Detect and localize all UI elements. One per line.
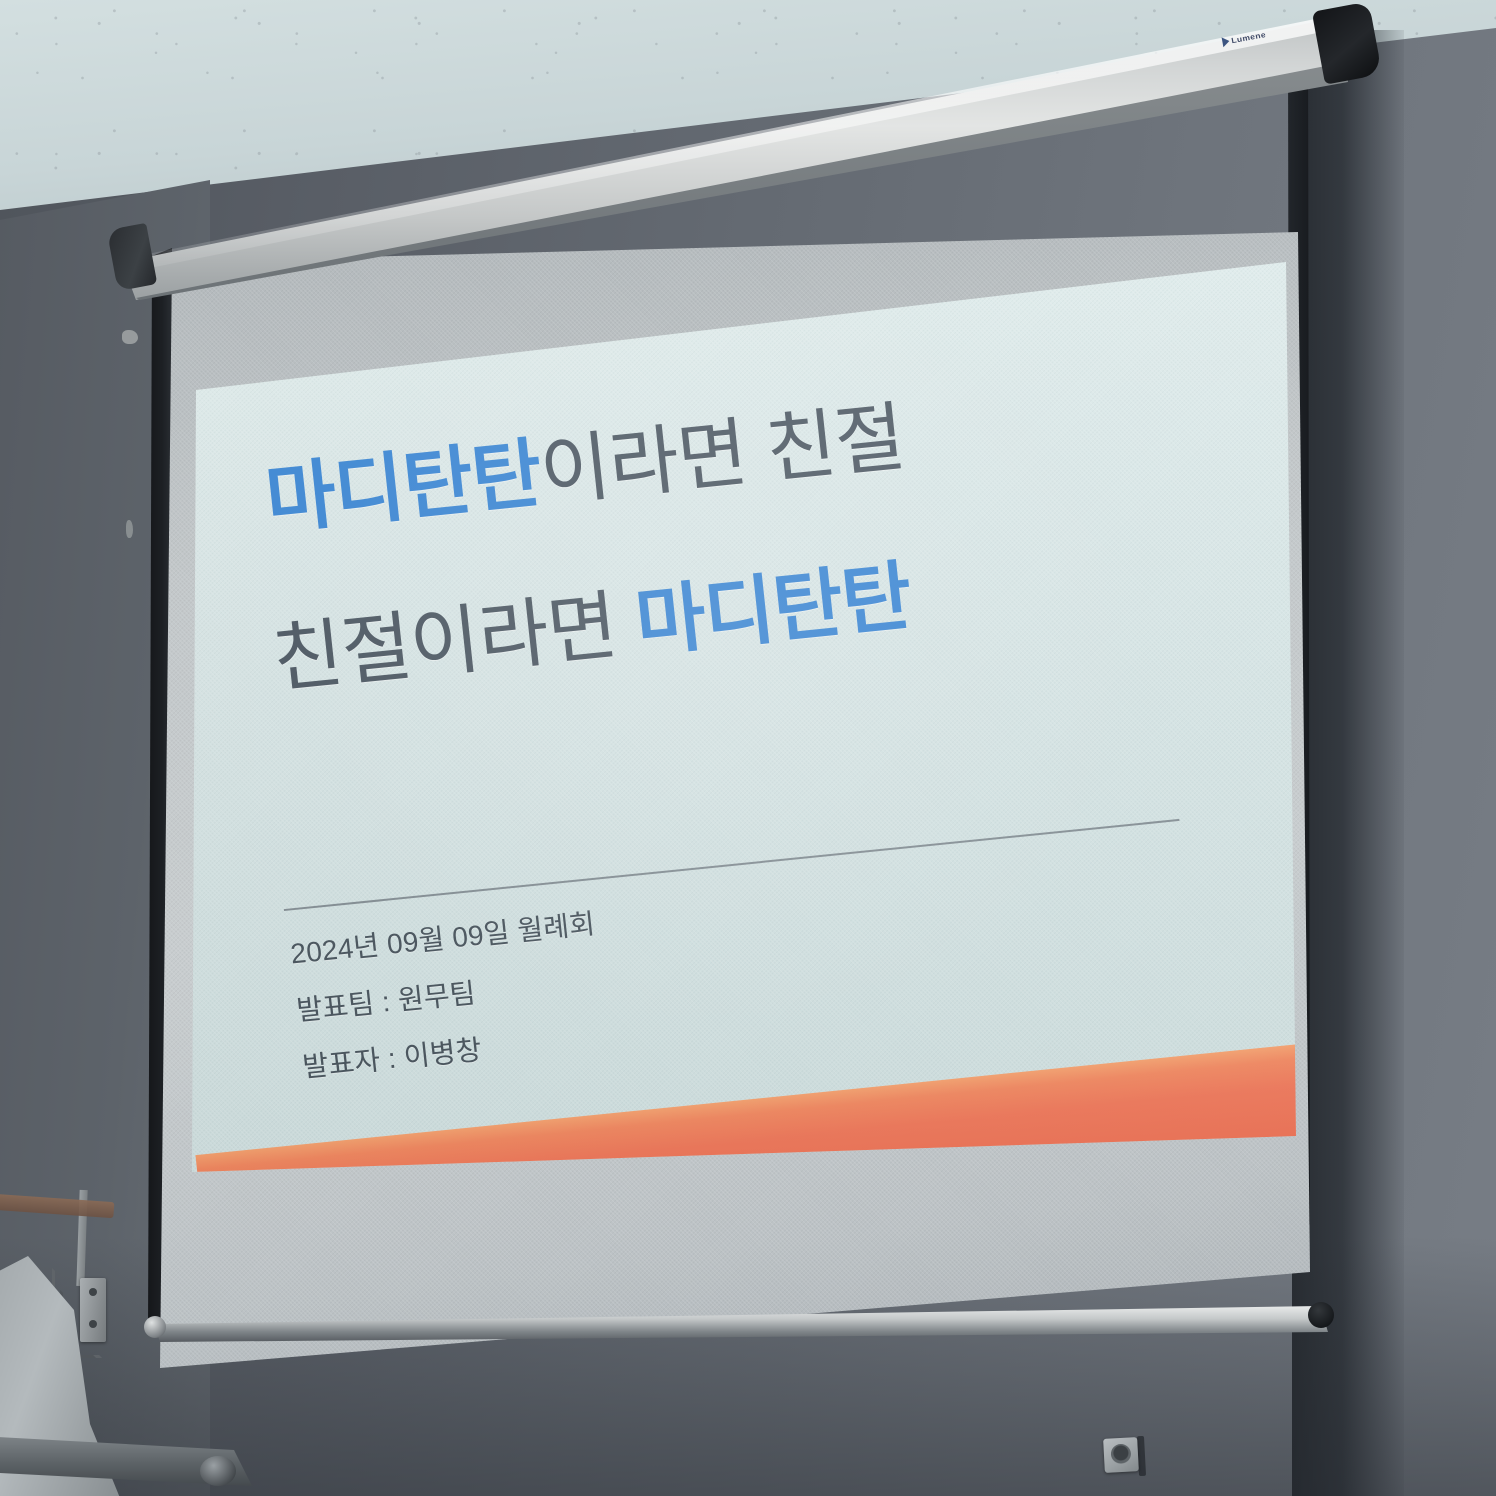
screen-weight-bar-left-cap <box>144 1316 166 1338</box>
slide-content: 마디탄탄이라면 친절 친절이라면 마디탄탄 2024년 09월 09일 월례회 … <box>192 262 1296 1172</box>
junction-box-hole <box>89 1320 97 1328</box>
brand-triangle-icon <box>1222 36 1231 47</box>
slide-title-line-2: 친절이라면 마디탄탄 <box>255 521 1239 704</box>
screen-weight-bar-right-cap <box>1308 1302 1334 1328</box>
projector-screen-assembly[interactable]: 마디탄탄이라면 친절 친절이라면 마디탄탄 2024년 09월 09일 월례회 … <box>0 0 1496 1496</box>
slide-title-rest-2: 친절이라면 <box>269 582 641 703</box>
slide-title-line-1: 마디탄탄이라면 친절 <box>238 363 1222 546</box>
slide-title-block: 마디탄탄이라면 친절 친절이라면 마디탄탄 <box>238 363 1239 704</box>
wall-junction-box <box>80 1278 106 1342</box>
projected-slide: 마디탄탄이라면 친절 친절이라면 마디탄탄 2024년 09월 09일 월례회 … <box>0 0 1496 1496</box>
slide-title-rest-1: 이라면 친절 <box>536 395 908 516</box>
wall-power-socket <box>1103 1437 1139 1473</box>
slide-meta-block: 2024년 09월 09일 월례회 발표팀 : 원무팀 발표자 : 이병창 <box>289 871 1004 1111</box>
brand-name: Lumene <box>1231 30 1267 45</box>
room-scene: 마디탄탄이라면 친절 친절이라면 마디탄탄 2024년 09월 09일 월례회 … <box>0 0 1496 1496</box>
socket-receptacle <box>1110 1443 1131 1464</box>
slide-surface: 마디탄탄이라면 친절 친절이라면 마디탄탄 2024년 09월 09일 월례회 … <box>192 262 1296 1172</box>
slide-title-highlight-1: 마디탄탄 <box>262 431 545 543</box>
junction-box-hole <box>89 1288 97 1296</box>
slide-title-highlight-2: 마디탄탄 <box>632 554 915 666</box>
chair-adjust-knob[interactable] <box>200 1456 236 1486</box>
